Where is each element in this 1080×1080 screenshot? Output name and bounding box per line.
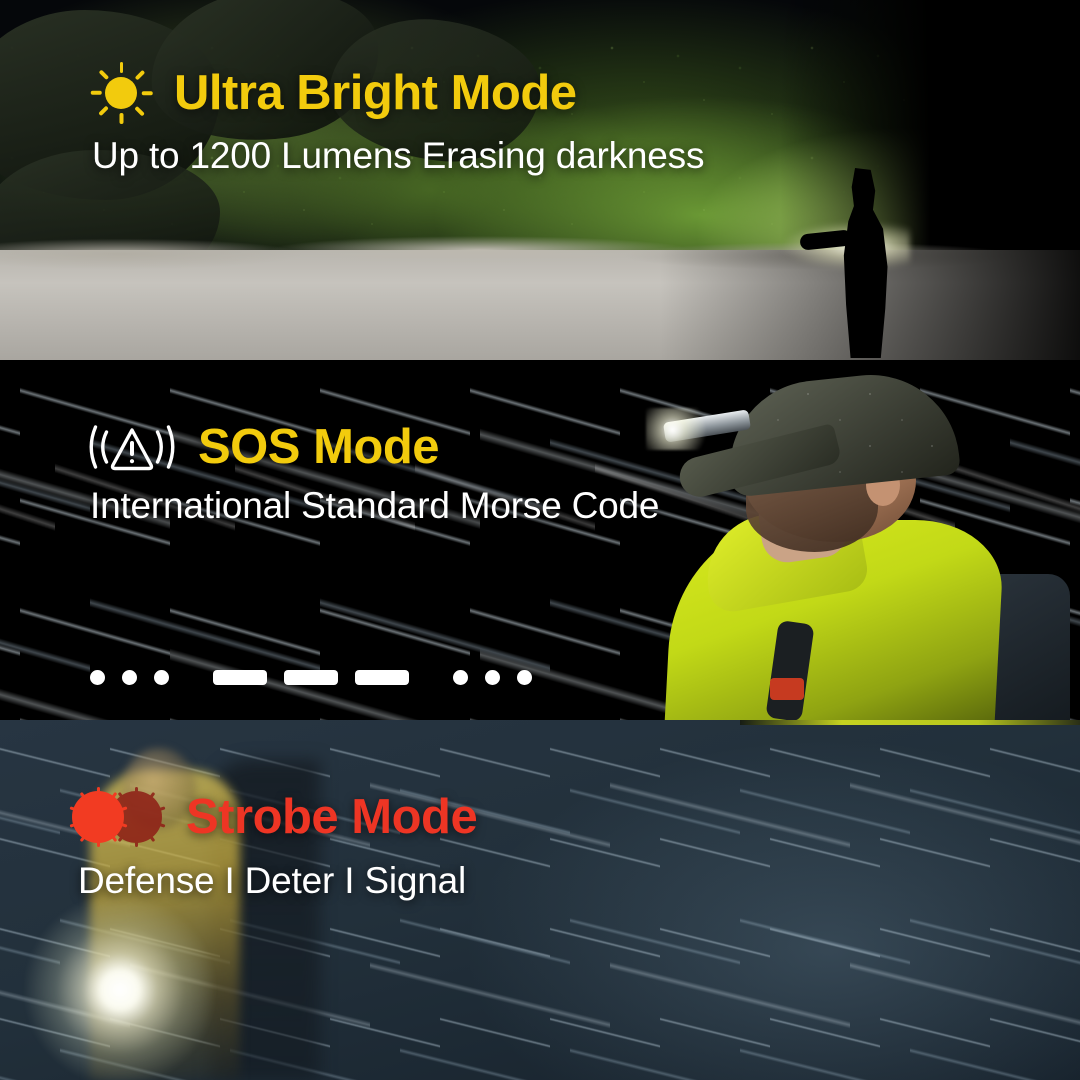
morse-gap	[186, 677, 196, 678]
sun-icon	[90, 62, 152, 124]
morse-dash	[213, 670, 267, 685]
strobe-circles-icon	[72, 788, 164, 846]
ultra-bright-title: Ultra Bright Mode	[174, 65, 577, 121]
sun-core	[105, 77, 137, 109]
morse-dot	[90, 670, 105, 685]
morse-code-sos-pattern	[90, 670, 532, 685]
strobe-circle-front	[72, 791, 124, 843]
morse-dot	[154, 670, 169, 685]
sos-title-row: SOS Mode	[88, 418, 439, 476]
strobe-subtitle: Defense I Deter I Signal	[78, 860, 466, 902]
strobe-title-row: Strobe Mode	[72, 788, 477, 846]
morse-dash	[355, 670, 409, 685]
product-feature-stage: Ultra Bright Mode Up to 1200 Lumens Eras…	[0, 0, 1080, 1080]
morse-dot	[453, 670, 468, 685]
panel1-content: Ultra Bright Mode Up to 1200 Lumens Eras…	[0, 0, 1080, 360]
morse-dot	[517, 670, 532, 685]
panel2-content: SOS Mode International Standard Morse Co…	[0, 360, 1080, 720]
morse-gap	[426, 677, 436, 678]
panel-ultra-bright-mode: Ultra Bright Mode Up to 1200 Lumens Eras…	[0, 0, 1080, 360]
panel3-content: Strobe Mode Defense I Deter I Signal	[0, 720, 1080, 1080]
ultra-bright-subtitle: Up to 1200 Lumens Erasing darkness	[92, 135, 704, 177]
morse-dash	[284, 670, 338, 685]
sos-subtitle: International Standard Morse Code	[90, 485, 659, 527]
morse-dot	[485, 670, 500, 685]
panel-strobe-mode: Strobe Mode Defense I Deter I Signal	[0, 720, 1080, 1080]
sos-title: SOS Mode	[198, 419, 439, 475]
morse-dot	[122, 670, 137, 685]
strobe-title: Strobe Mode	[186, 789, 477, 845]
warning-signal-icon	[88, 418, 176, 476]
panel-sos-mode: SOS Mode International Standard Morse Co…	[0, 360, 1080, 720]
ultra-bright-title-row: Ultra Bright Mode	[90, 62, 577, 124]
